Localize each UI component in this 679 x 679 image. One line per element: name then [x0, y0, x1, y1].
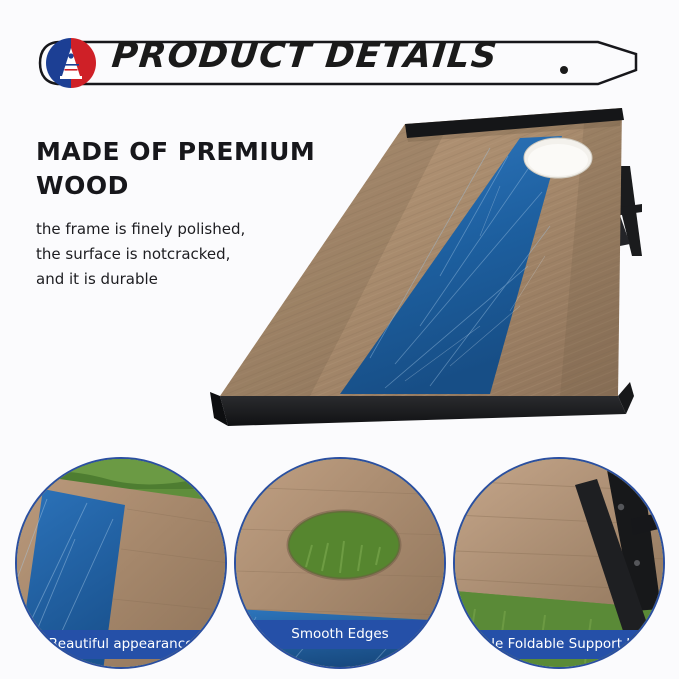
circle-caption-3: Stable Foldable Support Legs [455, 630, 663, 659]
detail-circle-support-legs: Stable Foldable Support Legs [453, 457, 665, 669]
circle-caption-2: Smooth Edges [236, 620, 444, 649]
header-banner: PRODUCT DETAILS [0, 0, 679, 100]
title-period-dot [560, 66, 568, 74]
hero-body: the frame is finely polished, the surfac… [36, 217, 356, 292]
hero-text-block: MADE OF PREMIUM WOOD the frame is finely… [36, 135, 356, 292]
detail-circle-smooth-edges: Smooth Edges [234, 457, 446, 669]
hero-body-line-1: the frame is finely polished, [36, 217, 356, 242]
circle-caption-1: Beautiful appearance [17, 630, 225, 659]
brand-badge [46, 38, 96, 88]
hero-heading: MADE OF PREMIUM WOOD [36, 135, 356, 203]
cornhole-board-badge-icon [46, 38, 96, 88]
hero-body-line-2: the surface is notcracked, [36, 242, 356, 267]
page-title: PRODUCT DETAILS [110, 36, 500, 76]
hero-body-line-3: and it is durable [36, 267, 356, 292]
detail-circle-beautiful-appearance: Beautiful appearance [15, 457, 227, 669]
detail-circles-row: Beautiful appearance [0, 455, 679, 679]
